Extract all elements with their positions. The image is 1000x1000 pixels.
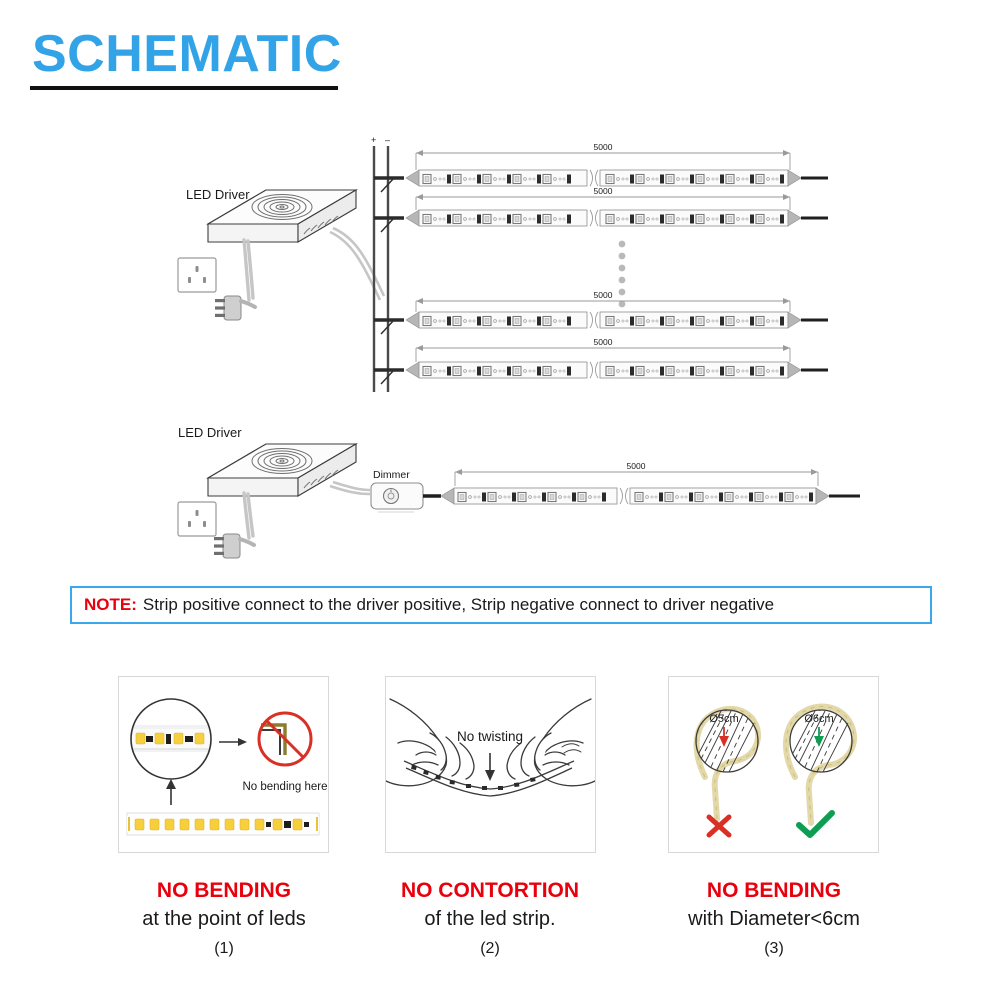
driver-label-bottom: LED Driver <box>178 425 242 440</box>
check-mark <box>799 813 832 835</box>
full-led-strip <box>127 813 319 835</box>
note-label: NOTE: <box>84 595 137 615</box>
strip-row-4: 5000 <box>374 337 828 384</box>
wiring-schematic: LED Driver + – 5000 <box>0 0 1000 580</box>
continuation-dots <box>619 241 626 308</box>
panel-no-bending-leds: No bending here <box>118 676 329 853</box>
arrow-right <box>219 738 247 746</box>
diameter-label-good: Ø6cm <box>804 713 833 725</box>
strip-row-3: 5000 <box>374 290 828 334</box>
schematic-page: SCHEMATIC <box>0 0 1000 1000</box>
panel-no-contortion: No twisting <box>385 676 596 853</box>
caption-2-num: (2) <box>360 934 620 964</box>
note-text: Strip positive connect to the driver pos… <box>143 595 774 615</box>
no-bending-symbol <box>259 713 311 765</box>
caption-panel-3: NO BENDING with Diameter<6cm (3) <box>644 878 904 964</box>
panel-3-figure: Ø5cm Ø6cm <box>669 677 878 852</box>
strip-dimension-3: 5000 <box>594 290 613 300</box>
wall-socket-bottom <box>178 502 216 536</box>
strip-dimension-2: 5000 <box>594 186 613 196</box>
driver-output-cable-a <box>330 232 380 300</box>
panel-1-figure: No bending here <box>119 677 328 852</box>
strip-dimension-dimmer: 5000 <box>627 461 646 471</box>
caption-1-head: NO BENDING <box>94 878 354 904</box>
caption-3-head: NO BENDING <box>644 878 904 904</box>
driver-label-top: LED Driver <box>186 187 250 202</box>
caption-1-sub: at the point of leds <box>94 904 354 934</box>
strip-row-2: 5000 <box>374 186 828 232</box>
diameter-label-bad: Ø5cm <box>709 713 738 725</box>
dimmer-label: Dimmer <box>373 469 410 481</box>
bus-positive-marker: + <box>371 135 376 145</box>
strip-row-1: 5000 <box>374 142 828 192</box>
caption-panel-2: NO CONTORTION of the led strip. (2) <box>360 878 620 964</box>
panel-1-inner-text: No bending here <box>242 781 327 793</box>
down-arrow <box>485 753 495 781</box>
panel-2-inner-text: No twisting <box>457 729 523 744</box>
magnified-strip <box>129 725 215 752</box>
caption-2-head: NO CONTORTION <box>360 878 620 904</box>
panel-2-figure: No twisting <box>386 677 595 852</box>
caption-1-num: (1) <box>94 934 354 964</box>
caption-panel-1: NO BENDING at the point of leds (1) <box>94 878 354 964</box>
strip-dimension-1: 5000 <box>594 142 613 152</box>
note-banner: NOTE: Strip positive connect to the driv… <box>70 586 932 624</box>
wall-socket-top <box>178 258 216 292</box>
dimmer-module <box>371 483 423 512</box>
caption-2-sub: of the led strip. <box>360 904 620 934</box>
pointer-arrow-up <box>166 779 176 805</box>
panel-no-bending-diameter: Ø5cm Ø6cm <box>668 676 879 853</box>
strip-row-dimmer: 5000 <box>441 461 860 504</box>
caption-3-num: (3) <box>644 934 904 964</box>
caption-3-sub: with Diameter<6cm <box>644 904 904 934</box>
loop-bad <box>696 709 758 819</box>
strip-dimension-4: 5000 <box>594 337 613 347</box>
bus-negative-marker: – <box>385 135 390 145</box>
